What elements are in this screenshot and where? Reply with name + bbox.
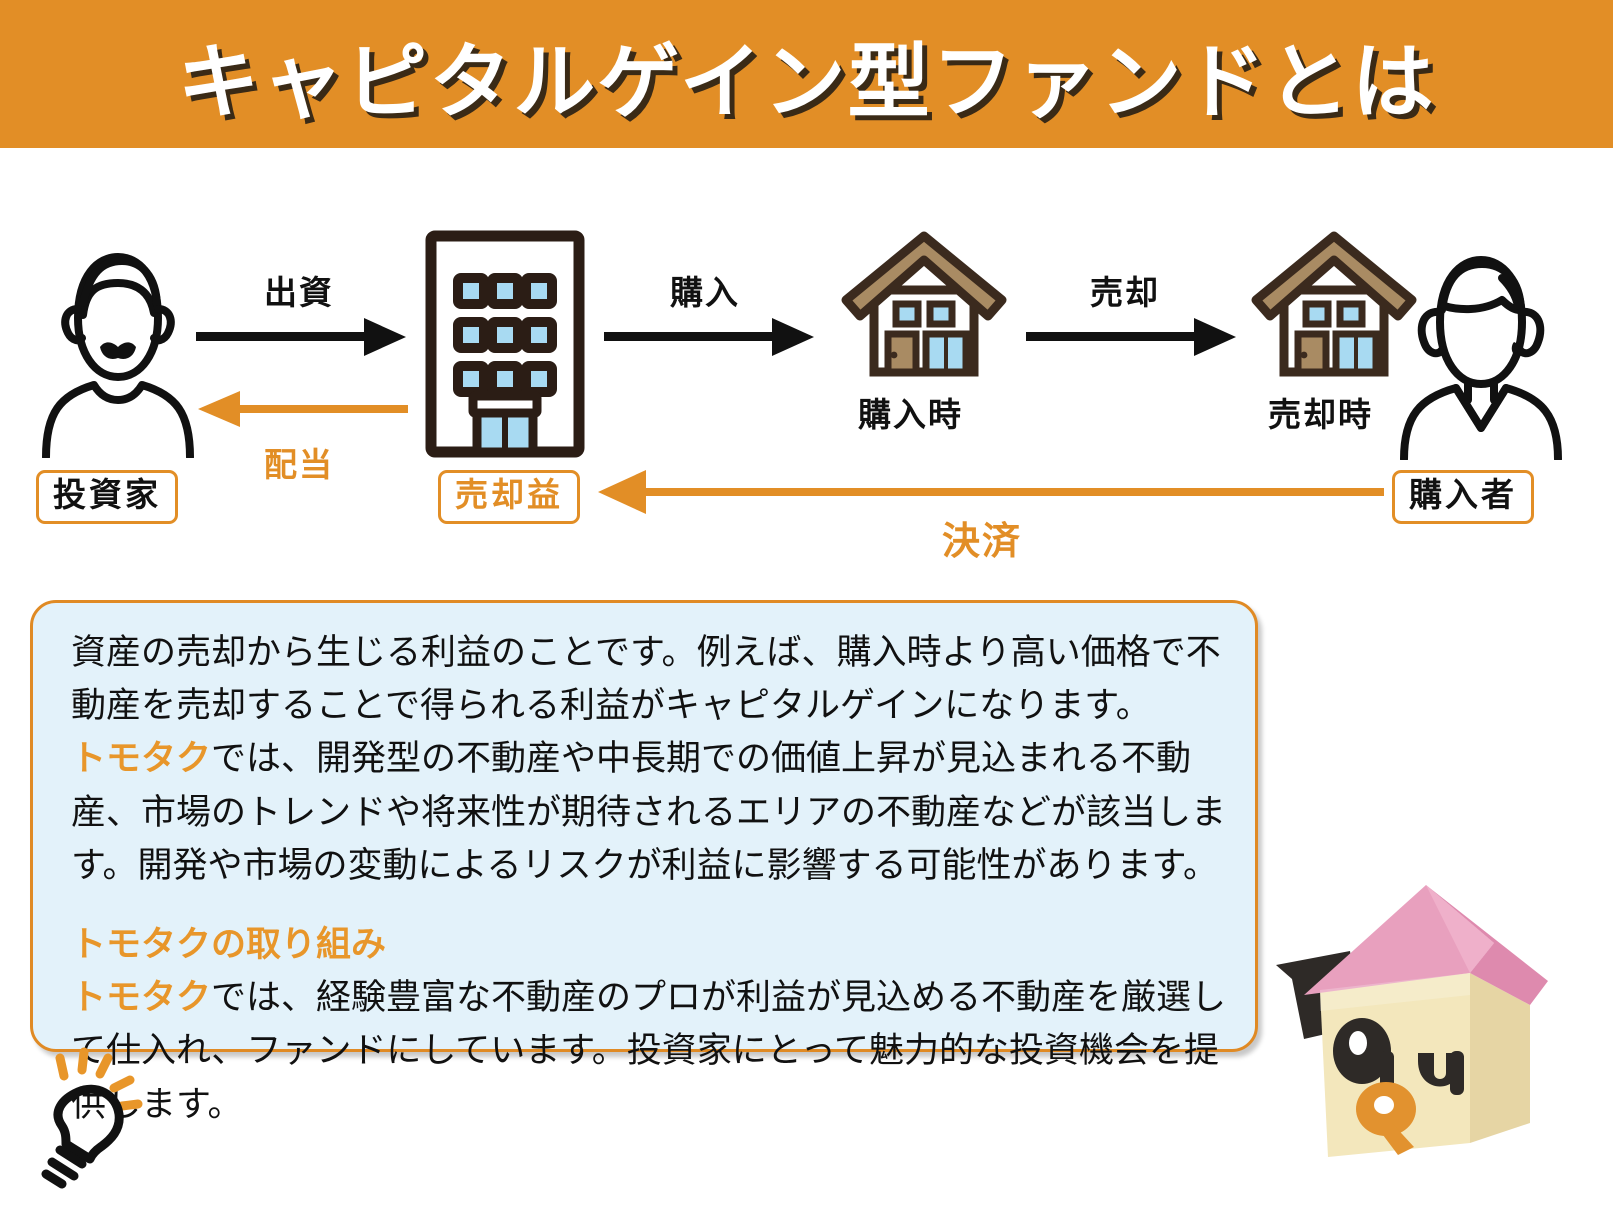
brand-name: トモタク: [71, 739, 211, 779]
brand-name: トモタク: [71, 978, 211, 1018]
info-callout: 資産の売却から生じる利益のことです。例えば、購入時より高い価格で不動産を売却する…: [30, 600, 1258, 1052]
house-icon: [1248, 228, 1420, 378]
arrow-label-baikyaku: 売却: [1090, 266, 1160, 314]
arrow-label-haito: 配当: [264, 438, 334, 486]
arrow-label-kessai: 決済: [942, 510, 1022, 565]
arrow-haito-left: [196, 388, 408, 432]
callout-text: 資産の売却から生じる利益のことです。例えば、購入時より高い価格で不動産を売却する…: [71, 627, 1231, 1132]
callout-paragraph-2: トモタクでは、開発型の不動産や中長期での価値上昇が見込まれる不動産、市場のトレン…: [71, 733, 1231, 893]
callout-paragraph-3-rest: では、経験豊富な不動産のプロが利益が見込める不動産を厳選して仕入れ、ファンドにし…: [71, 978, 1226, 1124]
arrow-kessai-left: [594, 468, 1384, 516]
page-title: キャピタルゲイン型ファンドとは: [177, 15, 1435, 134]
arrow-konyu-right: [604, 316, 816, 360]
box-label-sale-profit: 売却益: [438, 470, 580, 524]
arrow-shusshi-right: [196, 316, 408, 360]
arrow-baikyaku-right: [1026, 316, 1238, 360]
office-building-icon: [425, 230, 585, 458]
header-banner: キャピタルゲイン型ファンドとは: [0, 0, 1613, 148]
house-mascot-icon: [1258, 855, 1598, 1195]
box-label-investor: 投資家: [36, 470, 178, 524]
callout-paragraph-2-rest: では、開発型の不動産や中長期での価値上昇が見込まれる不動産、市場のトレンドや将来…: [71, 739, 1226, 885]
arrow-label-shusshi: 出資: [264, 266, 334, 314]
caption-sale-time: 売却時: [1268, 388, 1373, 436]
person-male-icon: [38, 243, 198, 458]
box-label-buyer: 購入者: [1392, 470, 1534, 524]
callout-subheading: トモタクの取り組み: [71, 919, 1231, 972]
lightbulb-icon: [18, 1040, 168, 1190]
callout-paragraph-3: トモタクでは、経験豊富な不動産のプロが利益が見込める不動産を厳選して仕入れ、ファ…: [71, 972, 1231, 1132]
caption-purchase-time: 購入時: [858, 388, 963, 436]
person-female-icon: [1398, 248, 1563, 460]
house-icon: [838, 228, 1010, 378]
flow-diagram: 出資 配当 投資家 売却益 購入: [0, 148, 1613, 588]
arrow-label-konyu: 購入: [670, 266, 740, 314]
callout-paragraph-1: 資産の売却から生じる利益のことです。例えば、購入時より高い価格で不動産を売却する…: [71, 627, 1231, 733]
